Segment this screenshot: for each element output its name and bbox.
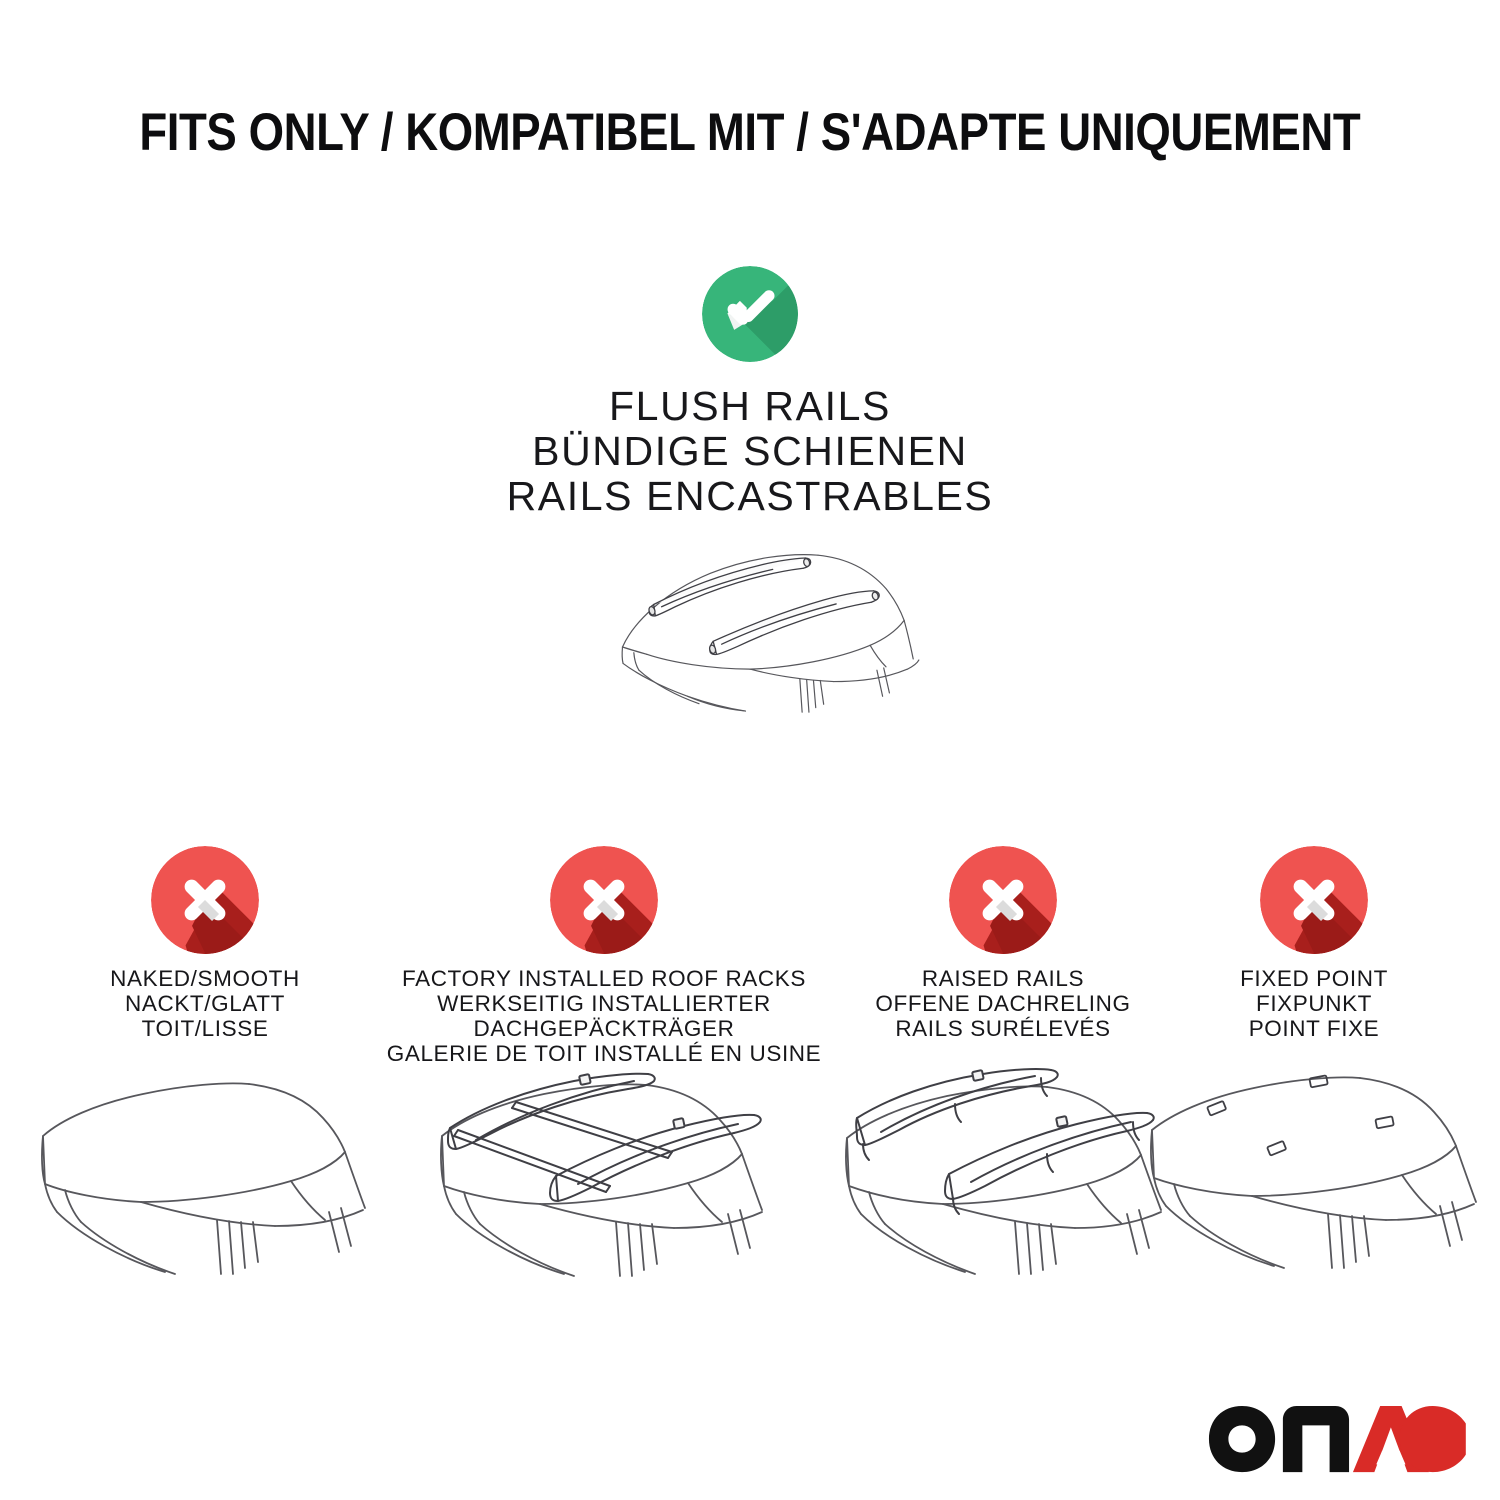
red-x-circle-icon: [1260, 846, 1368, 954]
incompatible-item-factory-roof-racks: FACTORY INSTALLED ROOF RACKS WERKSEITIG …: [370, 846, 838, 1282]
page-title: FITS ONLY / KOMPATIBEL MIT / S'ADAPTE UN…: [0, 104, 1500, 162]
incompatible-item-fixed-point: FIXED POINT FIXPUNKT POINT FIXE: [1168, 846, 1460, 1278]
red-x-circle-icon: [550, 846, 658, 954]
label-line-en: RAISED RAILS: [875, 966, 1130, 991]
label-line-fr: GALERIE DE TOIT INSTALLÉ EN USINE: [387, 1041, 822, 1066]
label-line-fr: RAILS SURÉLEVÉS: [875, 1016, 1130, 1041]
red-x-circle-icon: [151, 846, 259, 954]
label-line-de: FIXPUNKT: [1240, 991, 1388, 1016]
incompatible-labels-factory-roof-racks: FACTORY INSTALLED ROOF RACKS WERKSEITIG …: [387, 966, 822, 1066]
green-check-circle-icon: [702, 266, 798, 362]
red-x-circle-icon: [949, 846, 1057, 954]
label-line-de-1: WERKSEITIG INSTALLIERTER: [387, 991, 822, 1016]
incompatible-labels-naked-smooth: NAKED/SMOOTH NACKT/GLATT TOIT/LISSE: [110, 966, 300, 1062]
flush-rails-roof-illustration: [580, 525, 920, 735]
fixed-point-roof-illustration: [1144, 1068, 1484, 1278]
label-line-de: NACKT/GLATT: [110, 991, 300, 1016]
naked-smooth-roof-illustration: [35, 1068, 375, 1278]
compatible-section: FLUSH RAILS BÜNDIGE SCHIENEN RAILS ENCAS…: [0, 266, 1500, 735]
label-line-fr: POINT FIXE: [1240, 1016, 1388, 1041]
label-line-fr: TOIT/LISSE: [110, 1016, 300, 1041]
incompatible-labels-raised-rails: RAISED RAILS OFFENE DACHRELING RAILS SUR…: [875, 966, 1130, 1062]
page-title-text: FITS ONLY / KOMPATIBEL MIT / S'ADAPTE UN…: [140, 104, 1361, 162]
compatible-label-de: BÜNDIGE SCHIENEN: [507, 429, 994, 474]
incompatible-item-raised-rails: RAISED RAILS OFFENE DACHRELING RAILS SUR…: [838, 846, 1168, 1278]
label-line-de-2: DACHGEPÄCKTRÄGER: [387, 1016, 822, 1041]
label-line-de: OFFENE DACHRELING: [875, 991, 1130, 1016]
compatible-label-fr: RAILS ENCASTRABLES: [507, 474, 994, 519]
raised-rails-roof-illustration: [833, 1068, 1173, 1278]
compatible-label-en: FLUSH RAILS: [507, 384, 994, 429]
label-line-en: FIXED POINT: [1240, 966, 1388, 991]
factory-roof-rack-illustration: [428, 1072, 780, 1282]
incompatible-item-naked-smooth: NAKED/SMOOTH NACKT/GLATT TOIT/LISSE: [40, 846, 370, 1278]
compatible-labels: FLUSH RAILS BÜNDIGE SCHIENEN RAILS ENCAS…: [507, 384, 994, 519]
label-line-en: FACTORY INSTALLED ROOF RACKS: [387, 966, 822, 991]
label-line-en: NAKED/SMOOTH: [110, 966, 300, 991]
incompatible-labels-fixed-point: FIXED POINT FIXPUNKT POINT FIXE: [1240, 966, 1388, 1062]
omac-logo: [1207, 1390, 1468, 1476]
incompatible-section: NAKED/SMOOTH NACKT/GLATT TOIT/LISSE: [40, 846, 1460, 1282]
